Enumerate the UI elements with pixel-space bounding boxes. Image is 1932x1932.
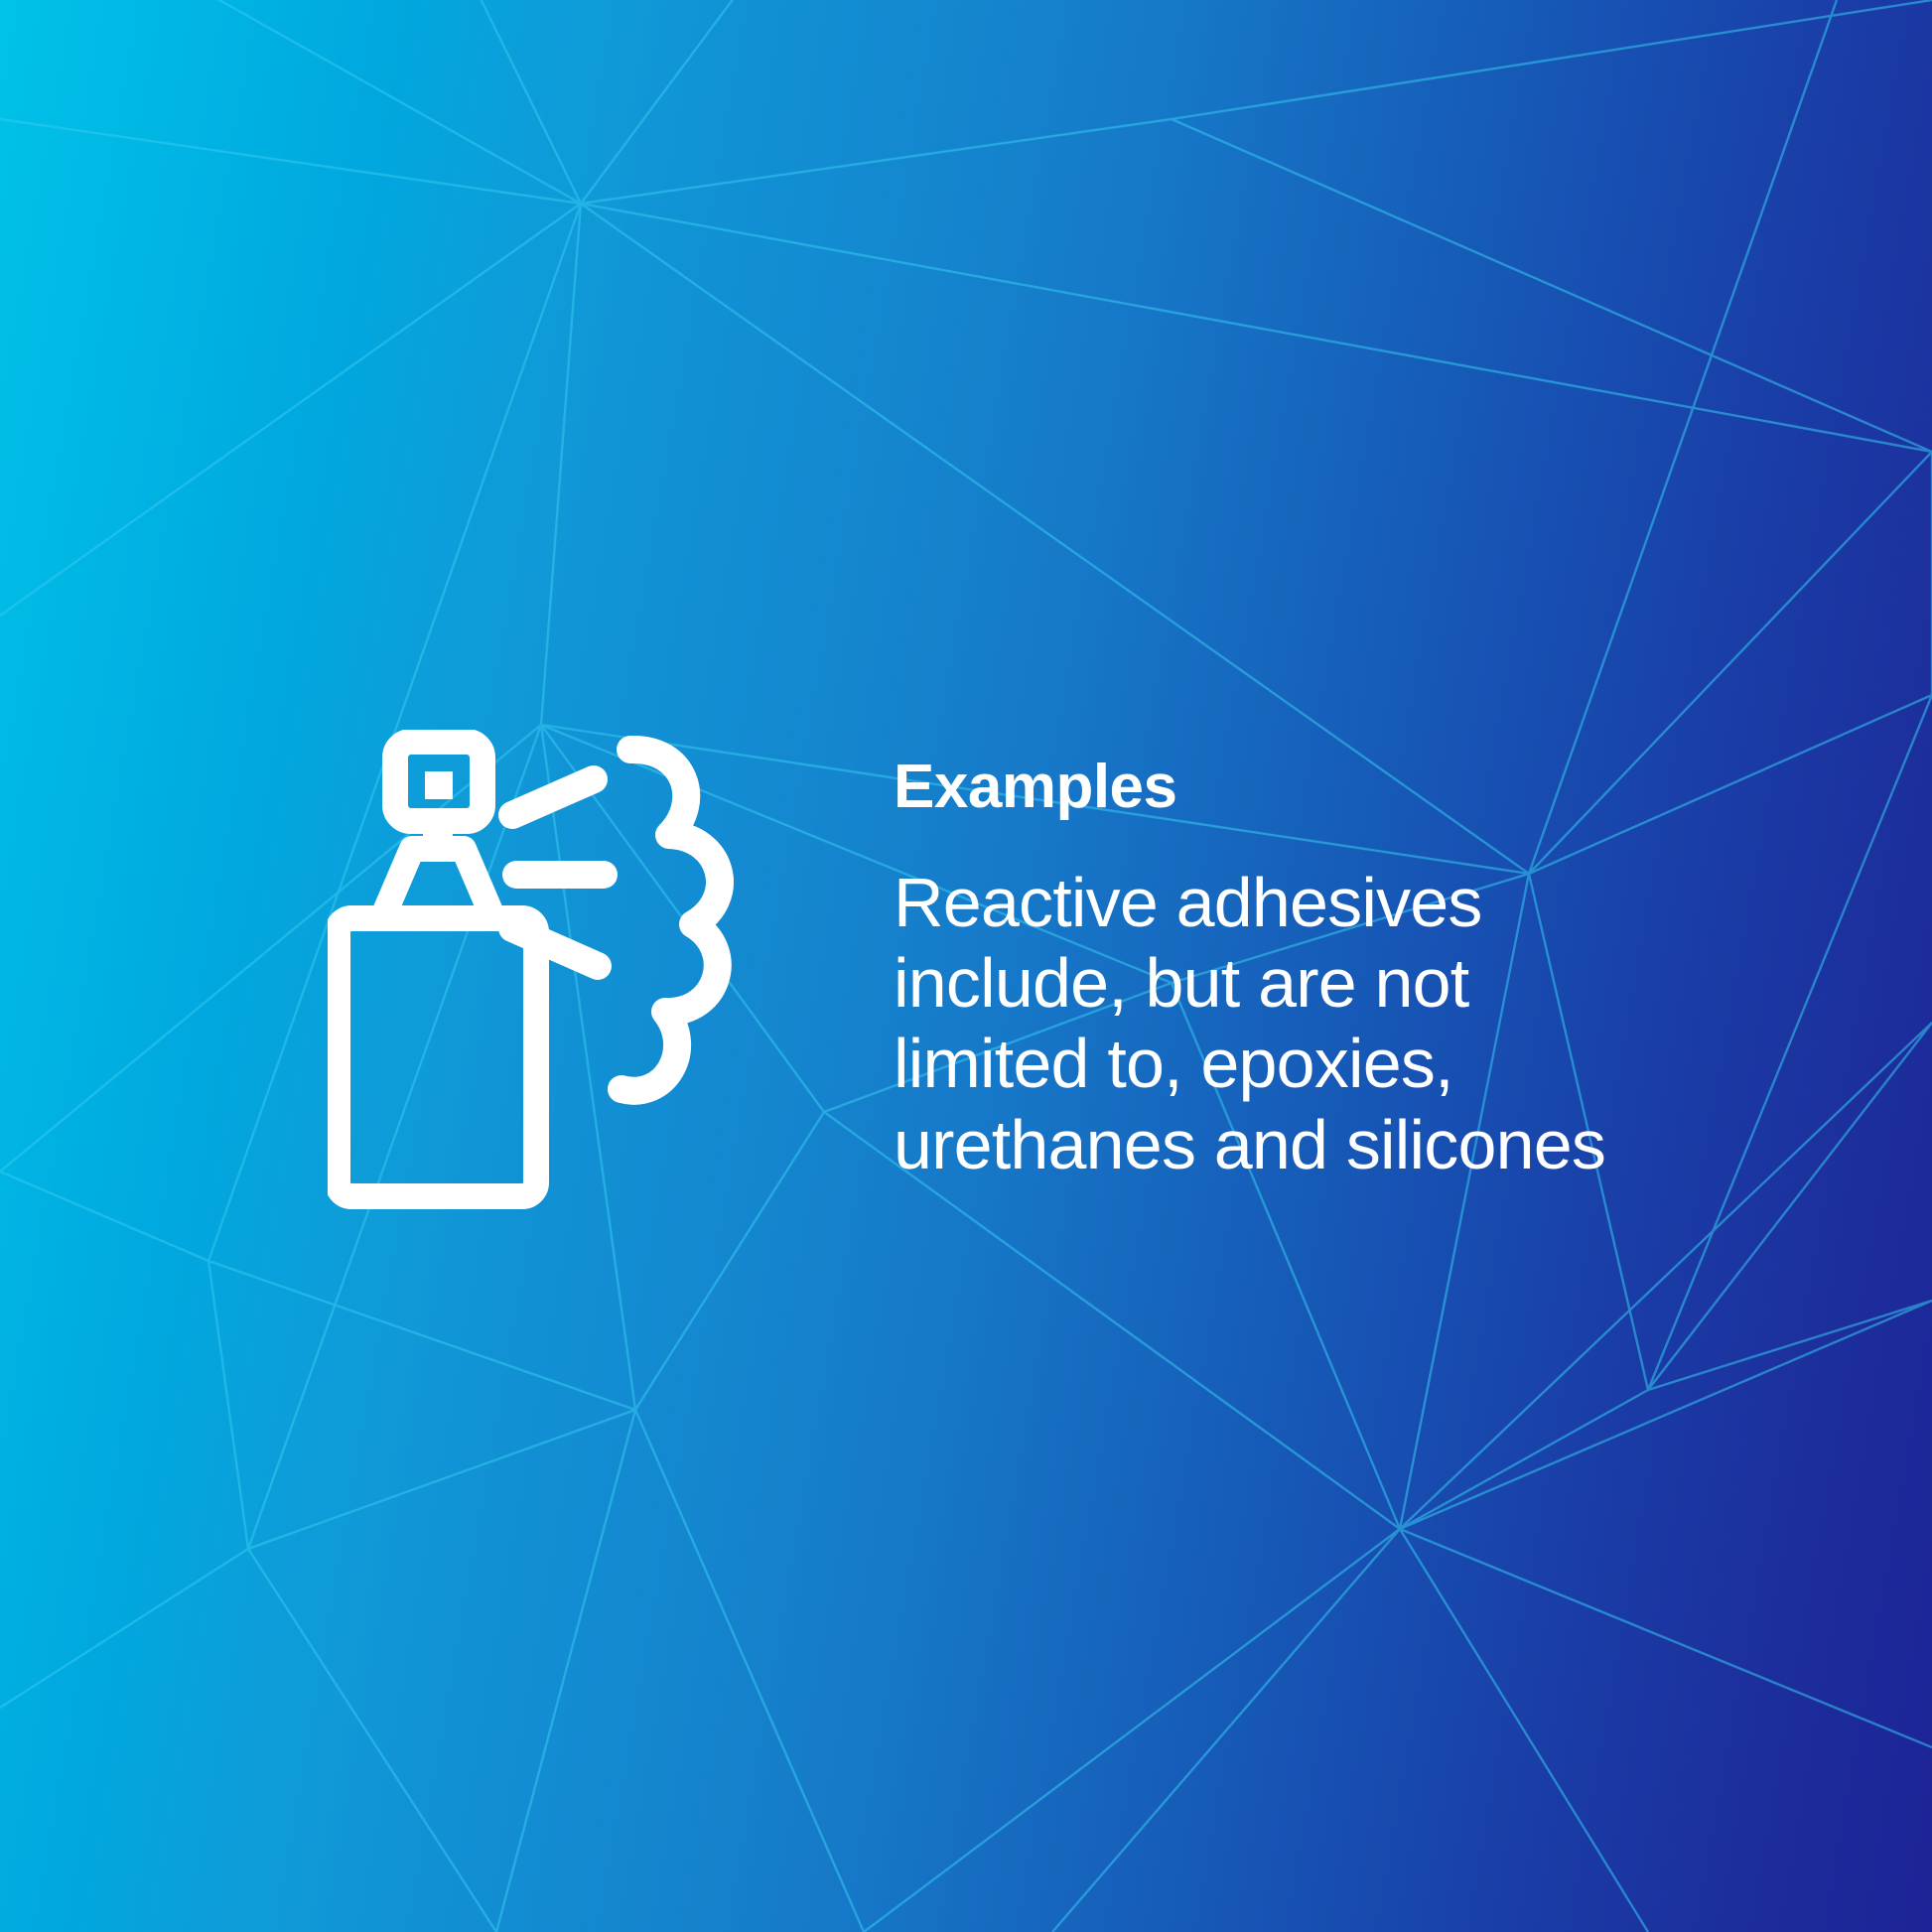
can-body-shape: [338, 918, 536, 1196]
text-block: Examples Reactive adhesives include, but…: [894, 755, 1747, 1185]
spray-cloud-arc: [621, 750, 720, 1091]
slide-canvas: Examples Reactive adhesives include, but…: [0, 0, 1932, 1932]
body-line-1: Reactive adhesives: [894, 863, 1747, 943]
body-paragraph: Reactive adhesives include, but are not …: [894, 863, 1747, 1185]
body-line-2: include, but are not: [894, 943, 1747, 1024]
spray-dash-top: [512, 779, 594, 815]
spray-can-icon: [328, 730, 745, 1226]
body-line-4: urethanes and silicones: [894, 1105, 1747, 1185]
nozzle-hole-shape: [425, 771, 453, 799]
spray-can-icon-graphic: [328, 730, 745, 1226]
slide-content: Examples Reactive adhesives include, but…: [0, 0, 1932, 1932]
body-line-3: limited to, epoxies,: [894, 1024, 1747, 1104]
page-heading: Examples: [894, 755, 1747, 819]
